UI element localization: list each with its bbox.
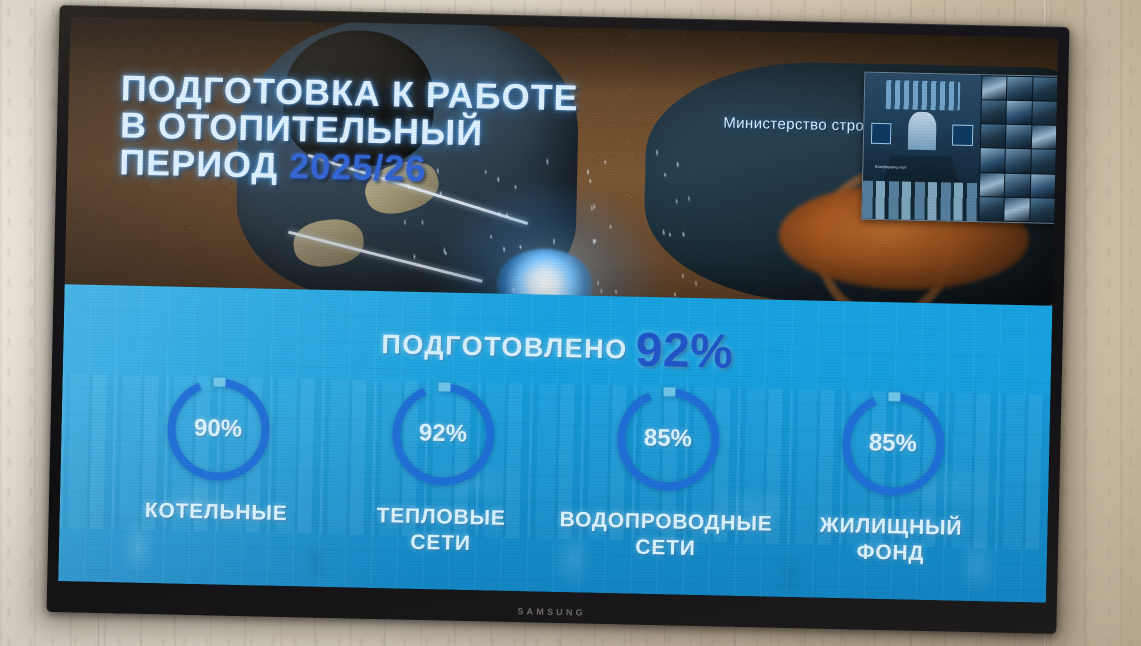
metric-caption-line: СЕТИ [635,535,696,559]
progress-ring: 85% [836,387,950,501]
participant-tile[interactable] [981,100,1006,124]
photo-scene: SAMSUNG ПОДГОТОВКА К РАБ [0,0,1141,646]
video-call-overlay[interactable]: Конференц-зал [861,72,1058,224]
progress-ring: 85% [611,382,725,496]
metric-percent: 92% [387,419,500,449]
progress-ring: 90% [161,372,275,486]
metric-caption: КОТЕЛЬНЫЕ [145,498,288,527]
metric-caption-line: ФОНД [856,540,924,564]
video-call-main-view[interactable]: Конференц-зал [862,73,981,221]
metric-percent: 85% [612,424,725,454]
metric-caption-line: ВОДОПРОВОДНЫЕ [559,508,772,536]
metric-percent: 90% [162,414,275,444]
metric-donut-1: 90%КОТЕЛЬНЫЕ [121,372,314,528]
metric-donut-2: 92%ТЕПЛОВЫЕСЕТИ [345,376,539,557]
title-period-year: 2025/26 [289,145,427,189]
metric-caption-line: ЖИЛИЩНЫЙ [820,514,963,540]
metric-caption: ЖИЛИЩНЫЙФОНД [819,513,963,567]
tv-screen: ПОДГОТОВКА К РАБОТЕ В ОТОПИТЕЛЬНЫЙ ПЕРИО… [58,16,1058,602]
progress-ring: 92% [386,377,500,491]
summary-value: 92% [635,324,734,379]
hall-front-row [862,181,979,221]
title-period-word: ПЕРИОД [119,142,279,186]
metric-donut-3: 85%ВОДОПРОВОДНЫЕСЕТИ [570,381,764,562]
video-call-participant-grid[interactable] [978,75,1058,223]
participant-tile[interactable] [1031,126,1056,150]
metric-donut-4: 85%ЖИЛИЩНЫЙФОНД [795,386,989,567]
participant-tile[interactable] [1006,125,1031,149]
metric-percent: 85% [837,429,950,459]
participant-tile[interactable] [1031,150,1056,174]
participant-tile[interactable] [1030,174,1055,198]
summary-label: ПОДГОТОВЛЕНО [381,329,628,364]
participant-tile[interactable] [1032,101,1057,125]
participant-tile[interactable] [979,197,1004,221]
stats-panel: ПОДГОТОВЛЕНО92% 90%КОТЕЛЬНЫЕ92%ТЕПЛОВЫЕС… [58,284,1052,602]
hall-ceiling-light [885,80,960,111]
hall-archway [908,112,937,151]
participant-tile[interactable] [980,149,1005,173]
participant-tile[interactable] [1032,77,1057,101]
video-call-caption: Конференц-зал [875,163,907,169]
participant-tile[interactable] [1007,101,1032,125]
participant-tile[interactable] [982,76,1007,100]
metric-caption: ТЕПЛОВЫЕСЕТИ [376,503,506,557]
participant-tile[interactable] [1007,77,1032,101]
metric-caption-line: ТЕПЛОВЫЕ [376,504,506,530]
hall-side-screen [871,122,892,143]
participant-tile[interactable] [1004,198,1029,222]
participant-tile[interactable] [1006,149,1031,173]
slide-banner: ПОДГОТОВКА К РАБОТЕ В ОТОПИТЕЛЬНЫЙ ПЕРИО… [65,16,1059,305]
participant-tile[interactable] [1005,173,1030,197]
ministry-label: Министерство стро [723,115,864,135]
participant-tile[interactable] [981,125,1006,149]
metric-caption-line: КОТЕЛЬНЫЕ [145,499,288,525]
metric-caption: ВОДОПРОВОДНЫЕСЕТИ [559,507,773,563]
television: SAMSUNG ПОДГОТОВКА К РАБ [46,5,1069,634]
metrics-row: 90%КОТЕЛЬНЫЕ92%ТЕПЛОВЫЕСЕТИ85%ВОДОПРОВОД… [59,370,1051,569]
hall-side-screen [952,124,973,145]
slide-title: ПОДГОТОВКА К РАБОТЕ В ОТОПИТЕЛЬНЫЙ ПЕРИО… [119,69,579,190]
participant-tile[interactable] [980,173,1005,197]
participant-tile[interactable] [1030,198,1055,222]
metric-caption-line: СЕТИ [410,530,471,554]
